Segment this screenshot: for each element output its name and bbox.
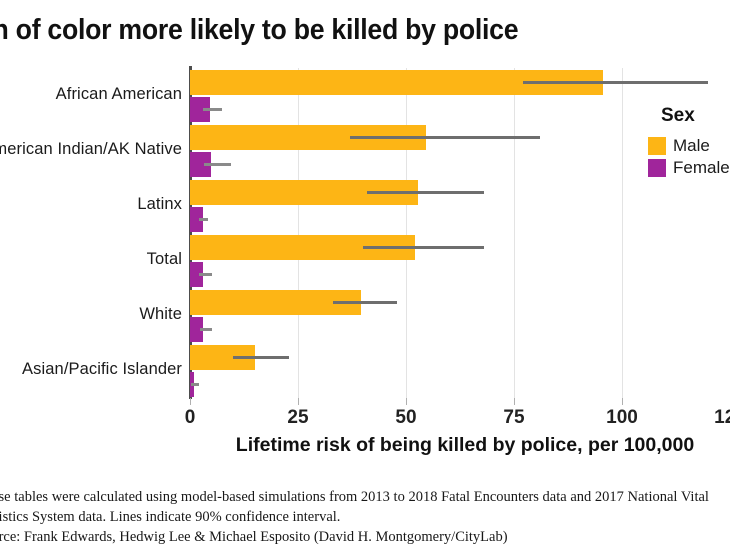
- x-tick-label: 50: [395, 407, 416, 429]
- legend-label-male: Male: [673, 136, 710, 156]
- y-axis-category-label: Latinx: [137, 195, 182, 214]
- confidence-interval-line: [350, 136, 540, 139]
- gridline: [298, 68, 299, 398]
- x-tick-label: 25: [287, 407, 308, 429]
- gridline: [514, 68, 515, 398]
- footnote-line-2: Statistics System data. Lines indicate 9…: [0, 507, 730, 527]
- confidence-interval-line: [199, 273, 212, 276]
- footnote-block: These tables were calculated using model…: [0, 487, 730, 547]
- confidence-interval-line: [333, 301, 398, 304]
- legend-swatch-male: [648, 137, 666, 155]
- x-axis-title: Lifetime risk of being killed by police,…: [0, 434, 730, 457]
- x-tick-mark: [406, 398, 407, 405]
- y-axis-category-label: Total: [147, 250, 182, 269]
- x-tick-label: 125: [714, 407, 730, 429]
- x-tick-mark: [298, 398, 299, 405]
- confidence-interval-line: [203, 108, 222, 111]
- page-title: Men of color more likely to be killed by…: [0, 14, 655, 47]
- x-tick-mark: [190, 398, 191, 405]
- legend-item-male[interactable]: Male: [648, 136, 730, 156]
- x-tick-label: 75: [503, 407, 524, 429]
- x-tick-mark: [622, 398, 623, 405]
- x-tick-label: 100: [606, 407, 638, 429]
- y-axis-category-label: White: [139, 305, 182, 324]
- legend-title: Sex: [661, 105, 730, 127]
- confidence-interval-line: [523, 81, 709, 84]
- y-axis-category-label: Asian/Pacific Islander: [22, 360, 182, 379]
- legend-swatch-female: [648, 159, 666, 177]
- confidence-interval-line: [233, 356, 289, 359]
- confidence-interval-line: [363, 246, 484, 249]
- legend-item-female[interactable]: Female: [648, 158, 730, 178]
- gridline: [406, 68, 407, 398]
- x-tick-mark: [514, 398, 515, 405]
- y-axis-category-label: African American: [56, 85, 182, 104]
- footnote-line-3: Source: Frank Edwards, Hedwig Lee & Mich…: [0, 527, 730, 547]
- gridline: [622, 68, 623, 398]
- confidence-interval-line: [199, 218, 209, 221]
- y-axis-category-label: American Indian/AK Native: [0, 140, 182, 159]
- x-tick-label: 0: [185, 407, 196, 429]
- confidence-interval-line: [200, 328, 212, 331]
- confidence-interval-line: [204, 163, 231, 166]
- chart-root: Men of color more likely to be killed by…: [0, 0, 730, 550]
- legend: Sex Male Female: [648, 105, 730, 180]
- footnote-line-1: These tables were calculated using model…: [0, 487, 730, 507]
- confidence-interval-line: [191, 383, 199, 386]
- legend-label-female: Female: [673, 158, 730, 178]
- confidence-interval-line: [367, 191, 484, 194]
